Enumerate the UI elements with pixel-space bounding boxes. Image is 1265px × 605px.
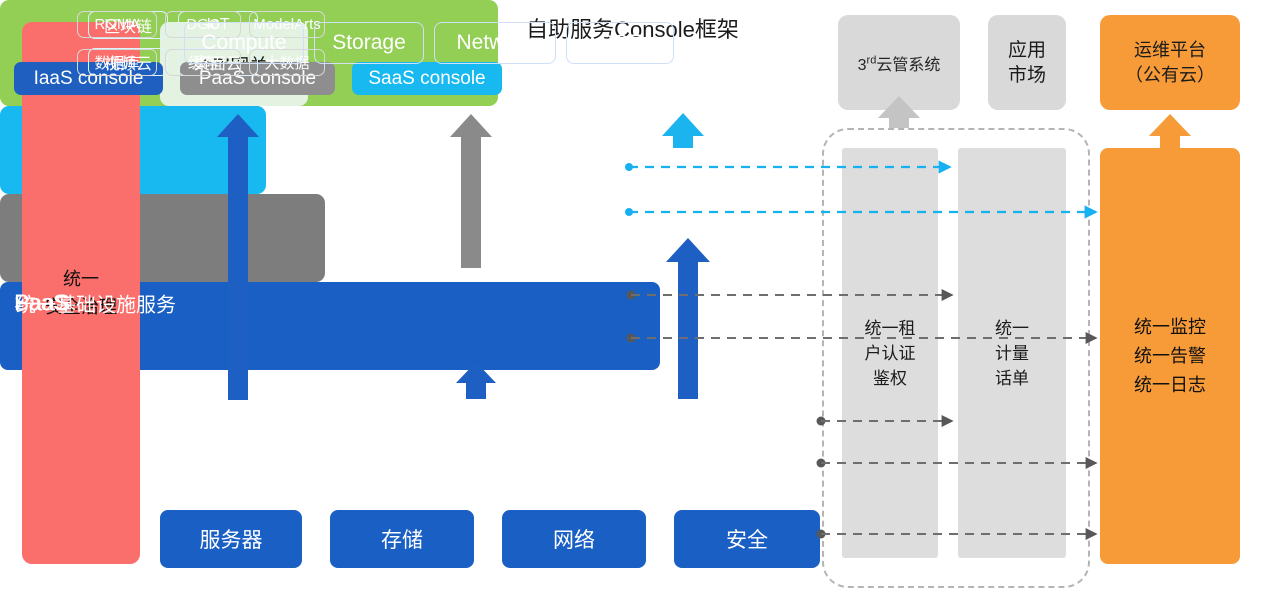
resource-tile-server[interactable]: 服务器 — [160, 510, 302, 568]
shared-billing-column: 统一 计量 话单 — [958, 148, 1066, 558]
auth-line-2: 户认证 — [865, 341, 916, 366]
auth-line-1: 统一租 — [865, 316, 916, 341]
iaas-chip-cce[interactable]: CCE — [566, 22, 674, 64]
resource-tile-storage[interactable]: 存储 — [330, 510, 474, 568]
paas-chip-roma-label: ROMA — [95, 16, 140, 33]
paas-chip-database-label: 数据库 — [94, 52, 139, 73]
ops-panel-line-2: 统一告警 — [1134, 342, 1206, 371]
ops-head-line-1: 运维平台 — [1125, 38, 1215, 63]
saas-console-label: SaaS console — [368, 68, 485, 90]
resource-tile-security[interactable]: 安全 — [674, 510, 820, 568]
iaas-chip-storage-label: Storage — [332, 31, 406, 55]
app-market-box: 应用 市场 — [988, 15, 1066, 110]
arrow-ops-panel-to-ops-platform — [1149, 114, 1191, 148]
iaas-layer-label: 统一基础设施服务 — [16, 288, 176, 317]
resource-tile-security-label: 安全 — [726, 524, 768, 554]
resource-tile-network-label: 网络 — [553, 524, 595, 554]
third-party-label: 3rd云管系统 — [858, 51, 941, 75]
billing-line-1: 统一 — [995, 316, 1029, 341]
ops-panel-line-3: 统一日志 — [1134, 371, 1206, 400]
saas-console-chip[interactable]: SaaS console — [352, 62, 502, 95]
ops-head-line-2: （公有云） — [1125, 63, 1215, 88]
iaas-chip-storage[interactable]: Storage — [314, 22, 424, 64]
iaas-chip-network-label: Network — [456, 31, 533, 55]
resource-tile-network[interactable]: 网络 — [502, 510, 646, 568]
auth-line-3: 鉴权 — [865, 366, 916, 391]
shared-auth-column: 统一租 户认证 鉴权 — [842, 148, 938, 558]
iaas-chip-compute-label: Compute — [201, 31, 286, 55]
paas-chip-roma[interactable]: ROMA — [77, 11, 157, 38]
paas-chip-database[interactable]: 数据库 — [77, 49, 157, 76]
arrow-saas-to-console — [662, 113, 704, 148]
billing-line-2: 计量 — [995, 341, 1029, 366]
arrow-iaas-to-saas — [666, 238, 710, 399]
third-party-cloud-management-box: 3rd云管系统 — [838, 15, 960, 110]
billing-line-3: 话单 — [995, 366, 1029, 391]
resource-tile-server-label: 服务器 — [200, 524, 263, 554]
resource-tile-storage-label: 存储 — [381, 524, 423, 554]
arrow-paas-to-console — [450, 114, 492, 268]
iaas-chip-compute[interactable]: Compute — [184, 22, 304, 64]
app-market-line-2: 市场 — [1008, 63, 1046, 88]
app-market-line-1: 应用 — [1008, 38, 1046, 63]
ops-platform-box: 运维平台 （公有云） — [1100, 15, 1240, 110]
ops-panel-line-1: 统一监控 — [1134, 313, 1206, 342]
ops-monitoring-panel: 统一监控 统一告警 统一日志 — [1100, 148, 1240, 564]
architecture-diagram: 统一租 户认证 鉴权 统一 计量 话单 统一 安全治理 API网关 自助服务Co… — [0, 0, 1265, 605]
iaas-chip-cce-label: CCE — [598, 31, 642, 55]
iaas-chip-network[interactable]: Network — [434, 22, 556, 64]
